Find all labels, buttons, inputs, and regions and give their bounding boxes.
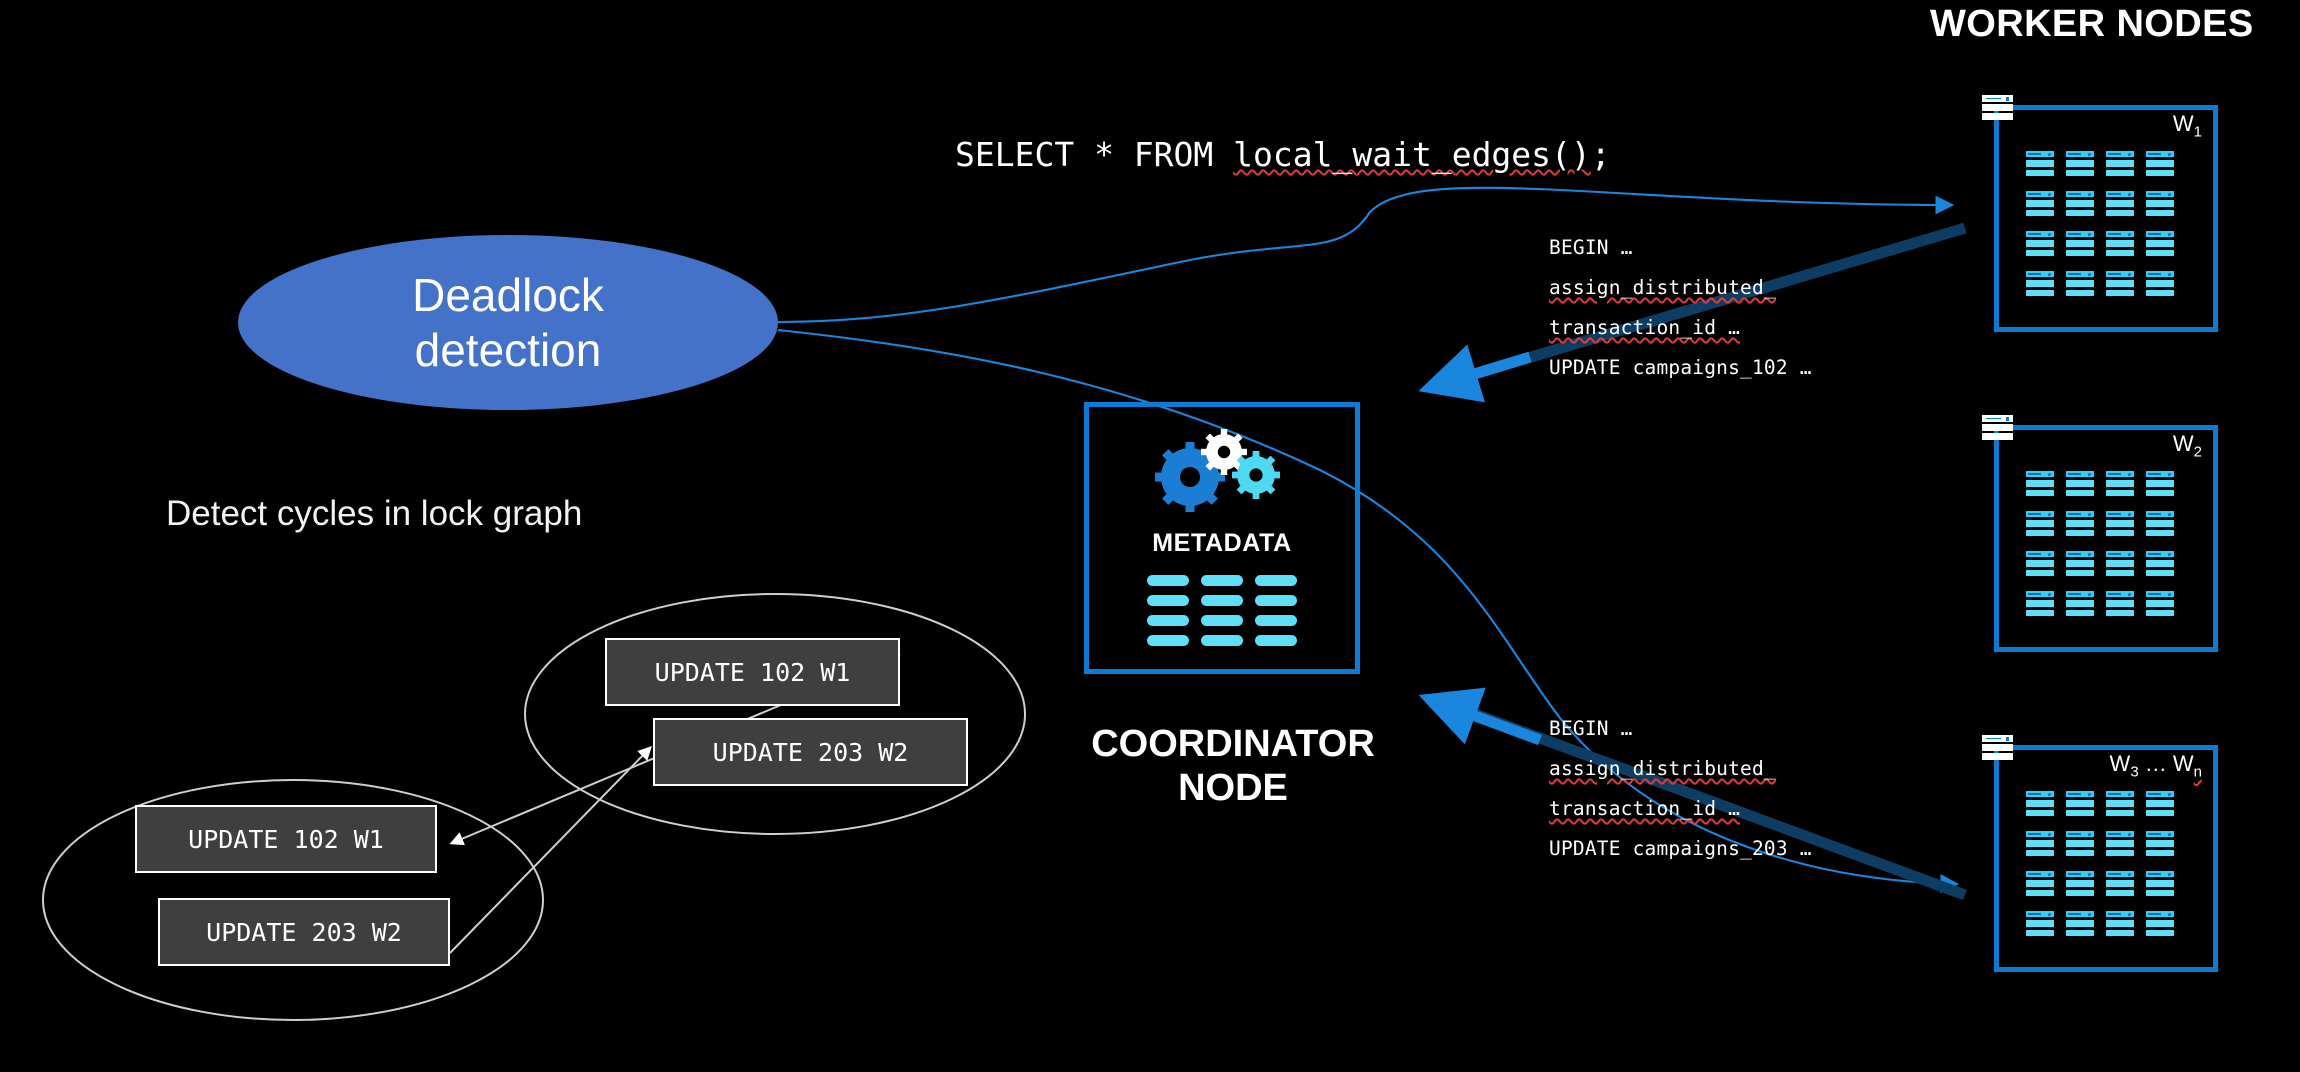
- table-icon: [2146, 191, 2174, 217]
- lock-box: UPDATE 102 W1: [605, 638, 900, 706]
- table-icon: [2106, 551, 2134, 577]
- metadata-bar: [1147, 595, 1189, 606]
- table-icon: [2106, 591, 2134, 617]
- diagram-canvas: Deadlock detection Detect cycles in lock…: [0, 0, 2300, 1072]
- transaction-snippet-102: BEGIN … assign_distributed_ transaction_…: [1549, 228, 1812, 388]
- txn-line: transaction_id …: [1549, 316, 1740, 339]
- table-icon: [2106, 191, 2134, 217]
- table-icon: [2106, 231, 2134, 257]
- lock-graph-ellipse-right: [525, 594, 1025, 834]
- lock-box-label: UPDATE 102 W1: [655, 658, 851, 687]
- table-icon: [2026, 551, 2054, 577]
- table-icon: [2146, 511, 2174, 537]
- table-icon: [2066, 871, 2094, 897]
- deadlock-detection-bubble: Deadlock detection: [238, 235, 778, 410]
- detect-cycles-caption: Detect cycles in lock graph: [166, 494, 582, 534]
- metadata-bar: [1147, 615, 1189, 626]
- server-icon: [1982, 95, 2013, 121]
- worker-table-grid: [2026, 791, 2174, 937]
- deadlock-detection-label: Deadlock detection: [412, 268, 604, 377]
- table-icon: [2026, 591, 2054, 617]
- metadata-bar: [1201, 635, 1243, 646]
- table-icon: [2146, 911, 2174, 937]
- worker-label-text: W: [2173, 431, 2194, 456]
- table-icon: [2146, 871, 2174, 897]
- table-icon: [2026, 191, 2054, 217]
- table-icon: [2026, 471, 2054, 497]
- table-icon: [2106, 911, 2134, 937]
- table-icon: [2106, 871, 2134, 897]
- server-icon: [1982, 415, 2013, 441]
- table-icon: [2106, 511, 2134, 537]
- table-icon: [2106, 271, 2134, 297]
- coordinator-node-label: COORDINATOR NODE: [1068, 722, 1398, 810]
- sql-suffix: ;: [1591, 135, 1611, 174]
- table-icon: [2066, 831, 2094, 857]
- sql-prefix: SELECT * FROM: [955, 135, 1233, 174]
- table-icon: [2106, 471, 2134, 497]
- table-icon: [2146, 271, 2174, 297]
- txn-line: assign_distributed_: [1549, 749, 1812, 789]
- lock-box-label: UPDATE 203 W2: [206, 918, 402, 947]
- txn-line: UPDATE campaigns_102 …: [1549, 348, 1812, 388]
- worker-label-subscript: 1: [2194, 123, 2202, 140]
- sql-function-name: local_wait_edges(): [1233, 135, 1591, 174]
- table-icon: [2146, 591, 2174, 617]
- sql-statement: SELECT * FROM local_wait_edges();: [955, 135, 1611, 174]
- coordinator-node-panel: METADATA: [1084, 402, 1360, 674]
- table-icon: [2026, 911, 2054, 937]
- table-icon: [2026, 231, 2054, 257]
- metadata-label: METADATA: [1089, 529, 1355, 558]
- worker-node-w2: W2: [1982, 415, 2218, 652]
- table-icon: [2026, 511, 2054, 537]
- table-icon: [2146, 151, 2174, 177]
- metadata-bar: [1255, 615, 1297, 626]
- table-icon: [2066, 791, 2094, 817]
- worker-nodes-title: WORKER NODES: [1930, 3, 2254, 46]
- table-icon: [2066, 191, 2094, 217]
- table-icon: [2026, 791, 2054, 817]
- worker-node-w3-wn: W3 … Wn: [1982, 735, 2218, 972]
- table-icon: [2106, 151, 2134, 177]
- metadata-bar: [1147, 575, 1189, 586]
- table-icon: [2066, 151, 2094, 177]
- txn-line: BEGIN …: [1549, 228, 1812, 268]
- metadata-bar: [1201, 595, 1243, 606]
- worker-label-subscript-n: n: [2194, 763, 2202, 780]
- table-icon: [2066, 911, 2094, 937]
- worker-table-grid: [2026, 471, 2174, 617]
- transaction-snippet-203: BEGIN … assign_distributed_ transaction_…: [1549, 709, 1812, 869]
- lock-box: UPDATE 203 W2: [158, 898, 450, 966]
- table-icon: [2066, 551, 2094, 577]
- worker-node-w1: W1: [1982, 95, 2218, 332]
- worker-table-grid: [2026, 151, 2174, 297]
- table-icon: [2066, 591, 2094, 617]
- server-icon: [1982, 735, 2013, 761]
- metadata-bar: [1255, 595, 1297, 606]
- table-icon: [2146, 231, 2174, 257]
- worker-node-label: W2: [2173, 431, 2202, 460]
- table-icon: [2026, 831, 2054, 857]
- table-icon: [2106, 831, 2134, 857]
- txn-line: BEGIN …: [1549, 709, 1812, 749]
- table-icon: [2066, 511, 2094, 537]
- table-icon: [2066, 271, 2094, 297]
- wait-edge-left-to-right: [450, 748, 650, 953]
- metadata-bar: [1147, 635, 1189, 646]
- table-icon: [2146, 471, 2174, 497]
- txn-line: transaction_id …: [1549, 797, 1740, 820]
- worker-label-subscript: 3: [2130, 763, 2138, 780]
- metadata-bars: [1147, 575, 1297, 646]
- table-icon: [2146, 551, 2174, 577]
- table-icon: [2066, 471, 2094, 497]
- table-icon: [2026, 271, 2054, 297]
- lock-box: UPDATE 203 W2: [653, 718, 968, 786]
- worker-label-range: … W: [2139, 751, 2194, 776]
- txn-line: assign_distributed_: [1549, 268, 1812, 308]
- worker-label-text: W: [2173, 111, 2194, 136]
- worker-label-text: W: [2110, 751, 2131, 776]
- gears-icon: [1152, 429, 1292, 515]
- txn-line: UPDATE campaigns_203 …: [1549, 829, 1812, 869]
- table-icon: [2026, 871, 2054, 897]
- table-icon: [2066, 231, 2094, 257]
- table-icon: [2146, 791, 2174, 817]
- table-icon: [2146, 831, 2174, 857]
- lock-box-label: UPDATE 102 W1: [188, 825, 384, 854]
- table-icon: [2026, 151, 2054, 177]
- table-icon: [2106, 791, 2134, 817]
- metadata-bar: [1201, 575, 1243, 586]
- metadata-bar: [1255, 635, 1297, 646]
- worker-node-label: W1: [2173, 111, 2202, 140]
- worker-label-subscript: 2: [2194, 443, 2202, 460]
- worker-node-label: W3 … Wn: [2110, 751, 2202, 780]
- lock-box-label: UPDATE 203 W2: [713, 738, 909, 767]
- lock-box: UPDATE 102 W1: [135, 805, 437, 873]
- metadata-bar: [1201, 615, 1243, 626]
- metadata-bar: [1255, 575, 1297, 586]
